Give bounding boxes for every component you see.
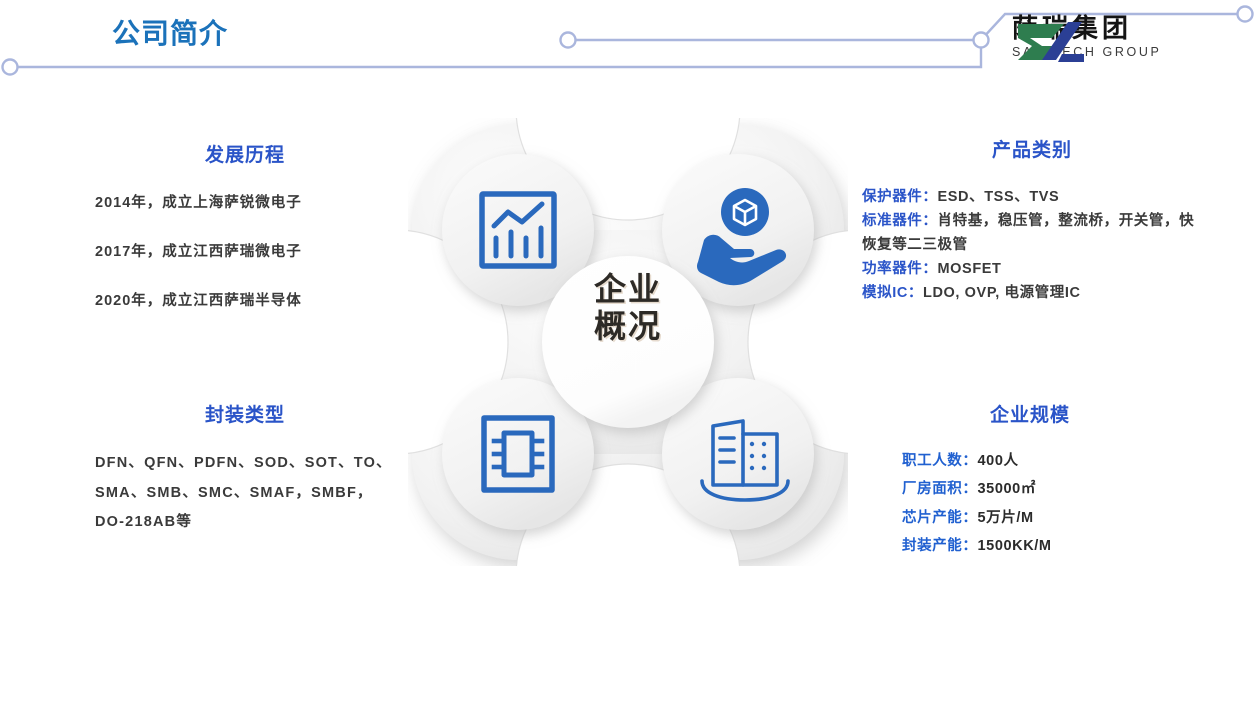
package-types-body: DFN、QFN、PDFN、SOD、SOT、TO、SMA、SMB、SMC、SMAF… [95,449,395,538]
product-row-value: MOSFET [938,261,1002,277]
page-title: 公司简介 [112,12,228,52]
history-item: 2014年，成立上海萨锐微电子 [95,191,395,212]
product-row-label: 模拟IC： [862,285,923,301]
section-package-heading: 封装类型 [95,400,395,427]
circuit-node-right [1238,7,1253,22]
product-row-value: LDO, OVP, 电源管理IC [923,285,1081,301]
section-company-scale: 企业规模 职工人数：400人 厂房面积：35000㎡ 芯片产能：5万片/M 封装… [880,400,1180,560]
product-row: 功率器件：MOSFET [862,258,1202,282]
product-row-value: ESD、TSS、TVS [938,189,1060,205]
product-row-label: 功率器件： [862,261,938,277]
diagram-center-circle [542,256,714,428]
scale-row: 厂房面积：35000㎡ [880,475,1180,503]
scale-row: 职工人数：400人 [880,447,1180,475]
product-row: 保护器件：ESD、TSS、TVS [862,186,1202,210]
section-history: 发展历程 2014年，成立上海萨锐微电子 2017年，成立江西萨瑞微电子 202… [95,140,395,338]
scale-row-value: 5万片/M [978,510,1034,526]
product-row-label: 标准器件： [862,213,938,229]
scale-row-label: 芯片产能： [902,510,978,526]
circuit-node-left [3,60,18,75]
scale-row-value: 400人 [978,453,1019,469]
section-history-heading: 发展历程 [95,140,395,167]
salltech-logo-mark [1012,16,1086,68]
section-package-types: 封装类型 DFN、QFN、PDFN、SOD、SOT、TO、SMA、SMB、SMC… [95,400,395,538]
product-categories-body: 保护器件：ESD、TSS、TVS 标准器件：肖特基，稳压管，整流桥，开关管，快恢… [862,186,1202,306]
scale-row: 封装产能：1500KK/M [880,532,1180,560]
product-row: 模拟IC：LDO, OVP, 电源管理IC [862,282,1202,306]
section-products-heading: 产品类别 [862,135,1202,162]
circuit-node-step [974,33,989,48]
section-product-categories: 产品类别 保护器件：ESD、TSS、TVS 标准器件：肖特基，稳压管，整流桥，开… [862,135,1202,306]
scale-row-label: 厂房面积： [902,481,978,497]
scale-row-label: 职工人数： [902,453,978,469]
company-logo: 萨瑞集团 SALLTECH GROUP [1012,16,1161,59]
history-item: 2020年，成立江西萨瑞半导体 [95,289,395,310]
scale-row: 芯片产能：5万片/M [880,504,1180,532]
scale-row-value: 1500KK/M [978,538,1052,554]
section-scale-heading: 企业规模 [880,400,1180,427]
circuit-node-mid [561,33,576,48]
product-row: 标准器件：肖特基，稳压管，整流桥，开关管，快恢复等二三极管 [862,210,1202,258]
diagram-graphic [408,118,848,566]
history-item: 2017年，成立江西萨瑞微电子 [95,240,395,261]
product-row-label: 保护器件： [862,189,938,205]
scale-row-label: 封装产能： [902,538,978,554]
scale-row-value: 35000㎡ [978,481,1036,497]
company-overview-diagram: 企业 概况 [408,118,848,566]
page-header: 公司简介 萨瑞集团 SALLTECH GROUP [0,0,1257,100]
